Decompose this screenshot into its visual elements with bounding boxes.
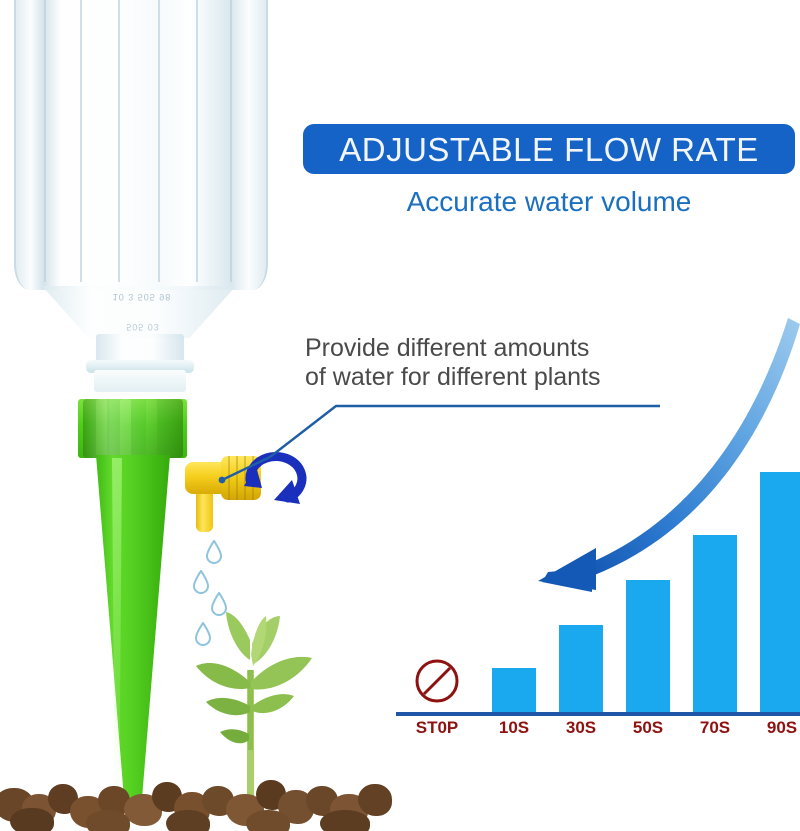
bar-70s — [693, 535, 737, 712]
rotate-knob-arrow-icon — [236, 440, 316, 520]
stop-prohibition-icon — [414, 658, 460, 704]
title-banner: ADJUSTABLE FLOW RATE — [303, 124, 795, 174]
valve-spout — [196, 490, 213, 532]
bottle-rib — [118, 0, 120, 282]
bottle-rib — [230, 0, 232, 282]
bar-30s — [559, 625, 603, 712]
bottle-emboss-text-top: 10 3 505 98 — [72, 290, 212, 302]
infographic-canvas: 10 3 505 98 505 03 — [0, 0, 800, 831]
bottle-neck-thread — [94, 370, 186, 392]
bottle-emboss-text-bottom: 505 03 — [88, 320, 198, 332]
tick-label-10s: 10S — [481, 718, 547, 738]
tick-label-50s: 50S — [615, 718, 681, 738]
flow-rate-bar-chart: ST0P 10S 30S 50S 70S 90S — [396, 430, 800, 730]
bottle-rib — [196, 0, 198, 282]
tick-label-70s: 70S — [682, 718, 748, 738]
bar-10s — [492, 668, 536, 712]
tick-label-stop: ST0P — [404, 718, 470, 738]
soil-bed — [0, 772, 392, 831]
tick-label-90s: 90S — [749, 718, 800, 738]
bottle-rib — [44, 0, 46, 282]
water-droplet-icon — [192, 570, 210, 594]
water-droplet-icon — [205, 540, 223, 564]
chart-baseline-axis — [396, 712, 800, 716]
subtitle-text: Accurate water volume — [303, 186, 795, 218]
tick-label-30s: 30S — [548, 718, 614, 738]
water-bottle: 10 3 505 98 505 03 — [8, 0, 270, 380]
bar-50s — [626, 580, 670, 712]
bottle-rib — [80, 0, 82, 282]
collar-shading — [83, 399, 183, 458]
knob-rib — [228, 456, 230, 500]
bar-90s — [760, 472, 800, 712]
banner-title: ADJUSTABLE FLOW RATE — [339, 133, 759, 166]
bottle-rib — [158, 0, 160, 282]
